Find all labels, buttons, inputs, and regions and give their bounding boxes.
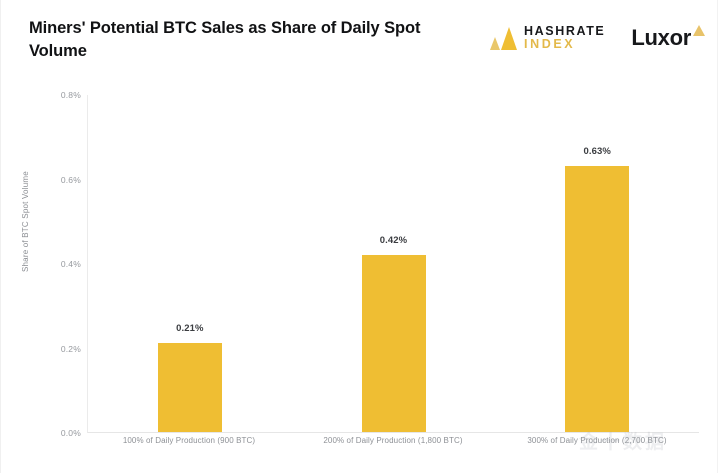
- triangle-pair-icon: [490, 27, 517, 50]
- chart-screenshot: Miners' Potential BTC Sales as Share of …: [0, 0, 718, 473]
- bar[interactable]: [362, 255, 426, 432]
- y-axis-tick-label: 0.4%: [61, 259, 81, 269]
- x-axis-labels: 100% of Daily Production (900 BTC)200% o…: [87, 436, 699, 445]
- bar[interactable]: [158, 343, 222, 432]
- x-axis-tick-label: 300% of Daily Production (2,700 BTC): [495, 436, 699, 445]
- chart-header: Miners' Potential BTC Sales as Share of …: [1, 0, 718, 76]
- triangle-icon: [693, 25, 705, 36]
- y-axis-tick-label: 0.6%: [61, 175, 81, 185]
- bar[interactable]: [565, 166, 629, 432]
- plot-area: 0.0%0.2%0.4%0.6%0.8% 0.21%0.42%0.63%: [87, 95, 699, 433]
- hashrate-index-line1: HASHRATE: [524, 25, 605, 39]
- hashrate-index-logo[interactable]: HASHRATE INDEX: [490, 25, 605, 52]
- bar-value-label: 0.42%: [380, 235, 407, 246]
- x-axis-tick-label: 200% of Daily Production (1,800 BTC): [291, 436, 495, 445]
- bar-slot: 0.63%: [495, 95, 699, 432]
- x-axis-tick-label: 100% of Daily Production (900 BTC): [87, 436, 291, 445]
- hashrate-index-wordmark: HASHRATE INDEX: [524, 25, 605, 52]
- bar-slot: 0.42%: [292, 95, 496, 432]
- luxor-logo[interactable]: Luxor: [631, 27, 705, 49]
- bar-series: 0.21%0.42%0.63%: [88, 95, 699, 432]
- bar-slot: 0.21%: [88, 95, 292, 432]
- bar-value-label: 0.63%: [583, 146, 610, 157]
- page-title: Miners' Potential BTC Sales as Share of …: [29, 17, 449, 63]
- y-axis-title: Share of BTC Spot Volume: [21, 258, 30, 272]
- bar-value-label: 0.21%: [176, 323, 203, 334]
- y-axis-tick-label: 0.0%: [61, 428, 81, 438]
- y-axis-tick-label: 0.8%: [61, 90, 81, 100]
- hashrate-index-line2: INDEX: [524, 38, 605, 52]
- chart-body: Share of BTC Spot Volume 0.0%0.2%0.4%0.6…: [1, 76, 718, 473]
- luxor-wordmark: Luxor: [631, 27, 691, 49]
- logo-group: HASHRATE INDEX Luxor: [490, 20, 705, 56]
- y-axis-tick-label: 0.2%: [61, 344, 81, 354]
